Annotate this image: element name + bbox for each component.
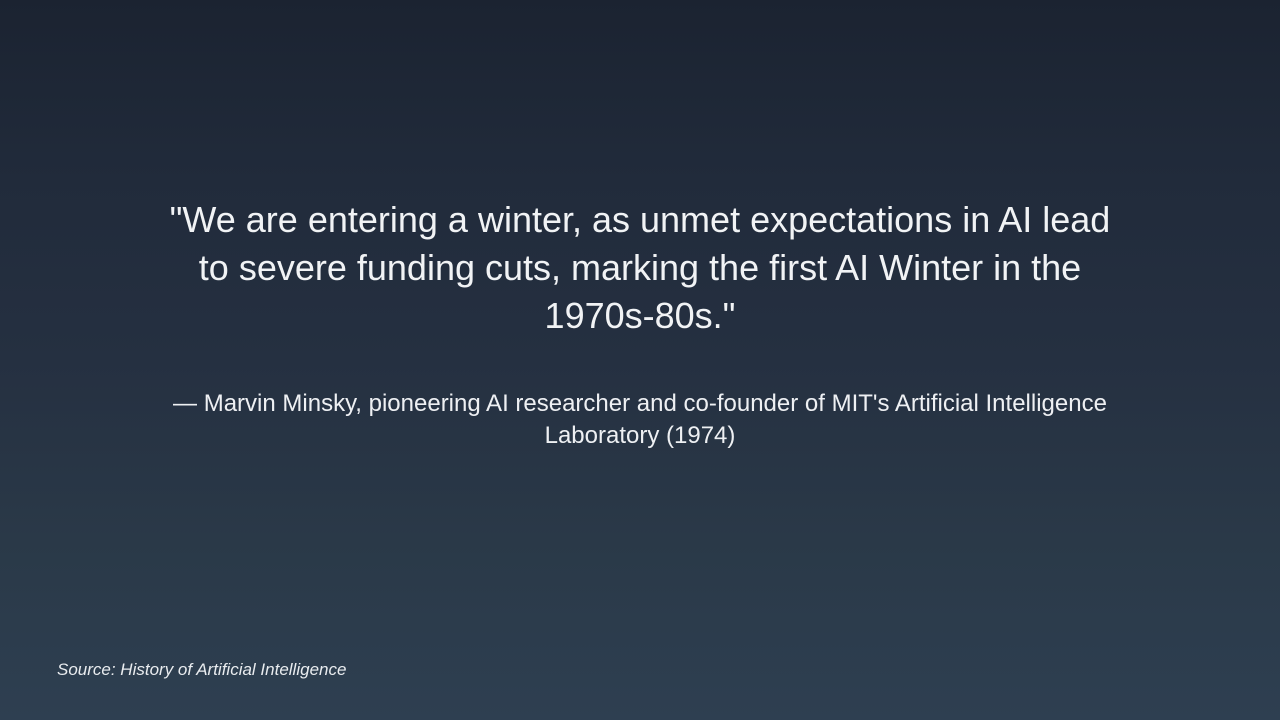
quote-container: "We are entering a winter, as unmet expe… [160,196,1120,340]
quote-slide: "We are entering a winter, as unmet expe… [0,0,1280,720]
attribution-container: — Marvin Minsky, pioneering AI researche… [160,388,1120,452]
source-citation: Source: History of Artificial Intelligen… [57,658,346,682]
quote-text: "We are entering a winter, as unmet expe… [160,196,1120,340]
attribution-text: — Marvin Minsky, pioneering AI researche… [160,388,1120,452]
